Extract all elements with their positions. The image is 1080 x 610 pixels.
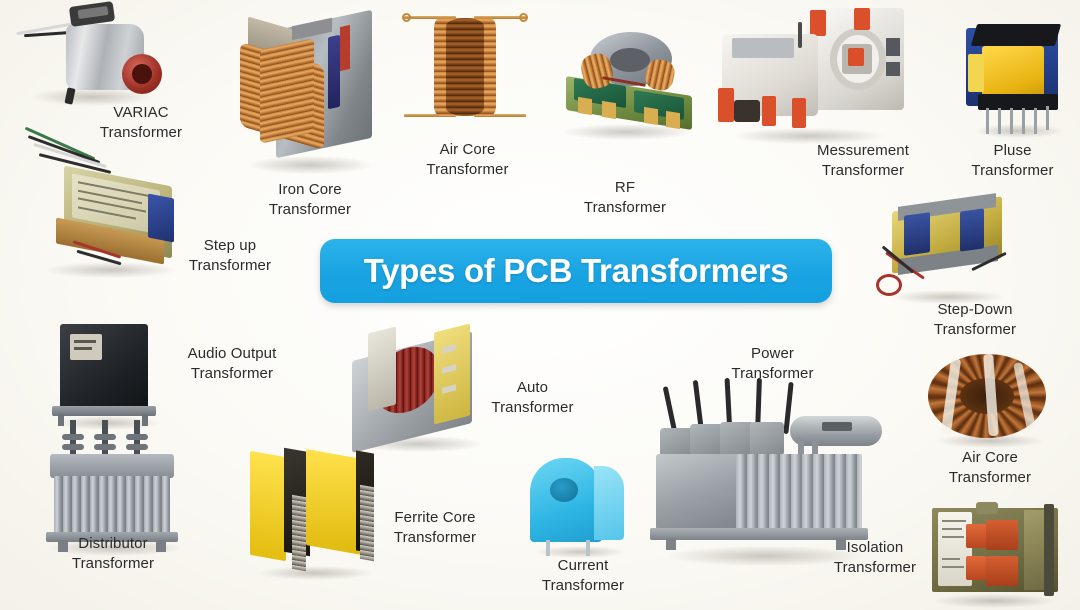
- messurement-line2: Transformer: [783, 161, 943, 181]
- current-line2: Transformer: [508, 576, 658, 596]
- label-variac: VARIAC Transformer: [66, 103, 216, 143]
- pluse-image: [956, 16, 1078, 138]
- isolation-line1: Isolation: [847, 539, 904, 556]
- isolation-line2: Transformer: [800, 558, 950, 578]
- pluse-line1: Pluse: [993, 142, 1031, 159]
- label-audio-output: Audio Output Transformer: [152, 344, 312, 384]
- rf-image: [548, 28, 708, 138]
- audio-output-line2: Transformer: [152, 364, 312, 384]
- title-banner: Types of PCB Transformers: [320, 239, 832, 303]
- label-step-down: Step-Down Transformer: [900, 300, 1050, 340]
- infographic-canvas: Types of PCB Transformers VARIAC Transfo…: [0, 0, 1080, 610]
- air-core-top-image: [400, 2, 530, 132]
- label-rf: RF Transformer: [550, 178, 700, 218]
- label-auto: Auto Transformer: [460, 378, 605, 418]
- air-core-top-line2: Transformer: [390, 160, 545, 180]
- audio-output-line1: Audio Output: [188, 345, 277, 362]
- iron-core-line1: Iron Core: [278, 181, 341, 198]
- label-iron-core: Iron Core Transformer: [235, 180, 385, 220]
- label-step-up: Step up Transformer: [155, 236, 305, 276]
- iron-core-line2: Transformer: [235, 200, 385, 220]
- ferrite-core-line2: Transformer: [355, 528, 515, 548]
- distributor-line2: Transformer: [38, 554, 188, 574]
- label-air-core-right: Air Core Transformer: [915, 448, 1065, 488]
- label-ferrite-core: Ferrite Core Transformer: [355, 508, 515, 548]
- power-line1: Power: [751, 345, 794, 362]
- step-up-line2: Transformer: [155, 256, 305, 276]
- label-air-core-top: Air Core Transformer: [390, 140, 545, 180]
- label-messurement: Messurement Transformer: [783, 141, 943, 181]
- distributor-line1: Distributor: [78, 535, 147, 552]
- step-down-line2: Transformer: [900, 320, 1050, 340]
- auto-line1: Auto: [517, 379, 548, 396]
- current-image: [520, 452, 640, 557]
- label-power: Power Transformer: [700, 344, 845, 384]
- step-down-image: [874, 198, 1024, 308]
- rf-line1: RF: [615, 179, 635, 196]
- air-core-right-line1: Air Core: [962, 449, 1018, 466]
- iron-core-image: [232, 18, 387, 173]
- power-line2: Transformer: [700, 364, 845, 384]
- air-core-top-line1: Air Core: [440, 141, 496, 158]
- current-line1: Current: [558, 557, 609, 574]
- label-current: Current Transformer: [508, 556, 658, 596]
- air-core-right-image: [920, 352, 1060, 447]
- rf-line2: Transformer: [550, 198, 700, 218]
- pluse-line2: Transformer: [940, 161, 1080, 181]
- step-up-line1: Step up: [204, 237, 256, 254]
- label-distributor: Distributor Transformer: [38, 534, 188, 574]
- ferrite-core-line1: Ferrite Core: [394, 509, 475, 526]
- variac-image: [10, 2, 170, 107]
- variac-line1: VARIAC: [113, 104, 168, 121]
- label-pluse: Pluse Transformer: [940, 141, 1080, 181]
- messurement-line1: Messurement: [817, 142, 909, 159]
- step-down-line1: Step-Down: [937, 301, 1012, 318]
- auto-line2: Transformer: [460, 398, 605, 418]
- page-title: Types of PCB Transformers: [364, 252, 789, 290]
- messurement-image: [714, 4, 904, 144]
- air-core-right-line2: Transformer: [915, 468, 1065, 488]
- label-isolation: Isolation Transformer: [800, 538, 950, 578]
